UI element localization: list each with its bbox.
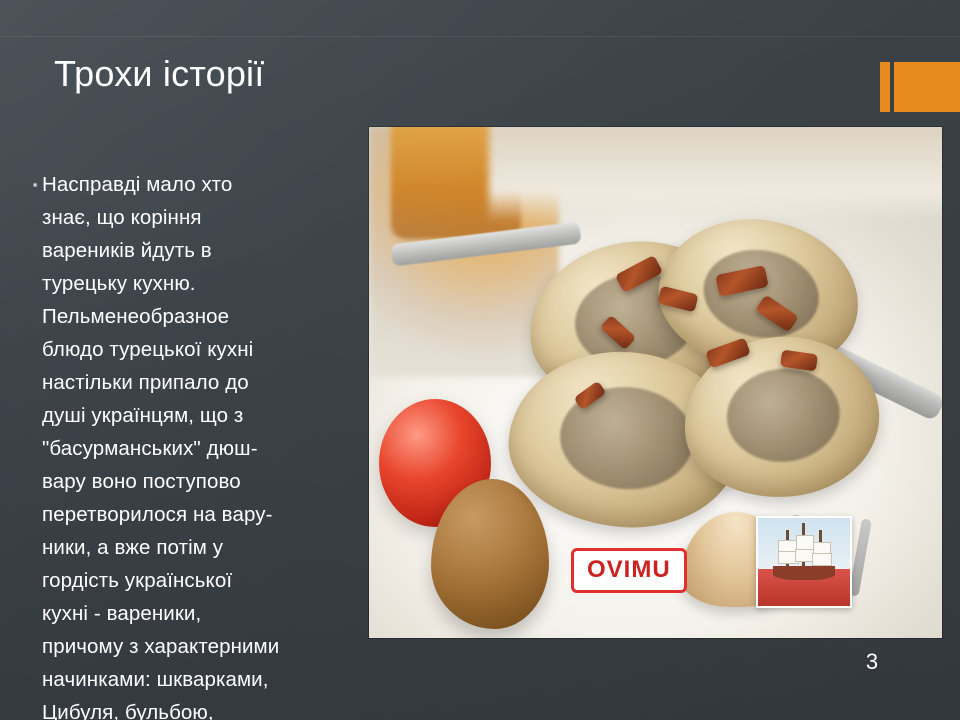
dumplings-photo: OVIMU — [369, 127, 942, 638]
accent-block-large — [894, 62, 960, 112]
blurred-background-top — [489, 127, 942, 222]
page-number: 3 — [852, 649, 892, 675]
watermark: OVIMU — [571, 548, 687, 593]
bullet-marker-icon: ▪ — [28, 168, 42, 201]
accent-block-small — [880, 62, 890, 112]
sailing-ship-stamp — [756, 516, 852, 608]
page-title: Трохи історії — [54, 52, 814, 96]
bullet-text: Насправді мало хто знає, що коріння варе… — [42, 168, 279, 720]
slide: Трохи історії ▪ Насправді мало хто знає,… — [0, 0, 960, 720]
bullet-list-item: ▪ Насправді мало хто знає, що коріння ва… — [28, 168, 358, 720]
body-content: ▪ Насправді мало хто знає, що коріння ва… — [28, 168, 358, 720]
header-divider — [0, 36, 960, 37]
